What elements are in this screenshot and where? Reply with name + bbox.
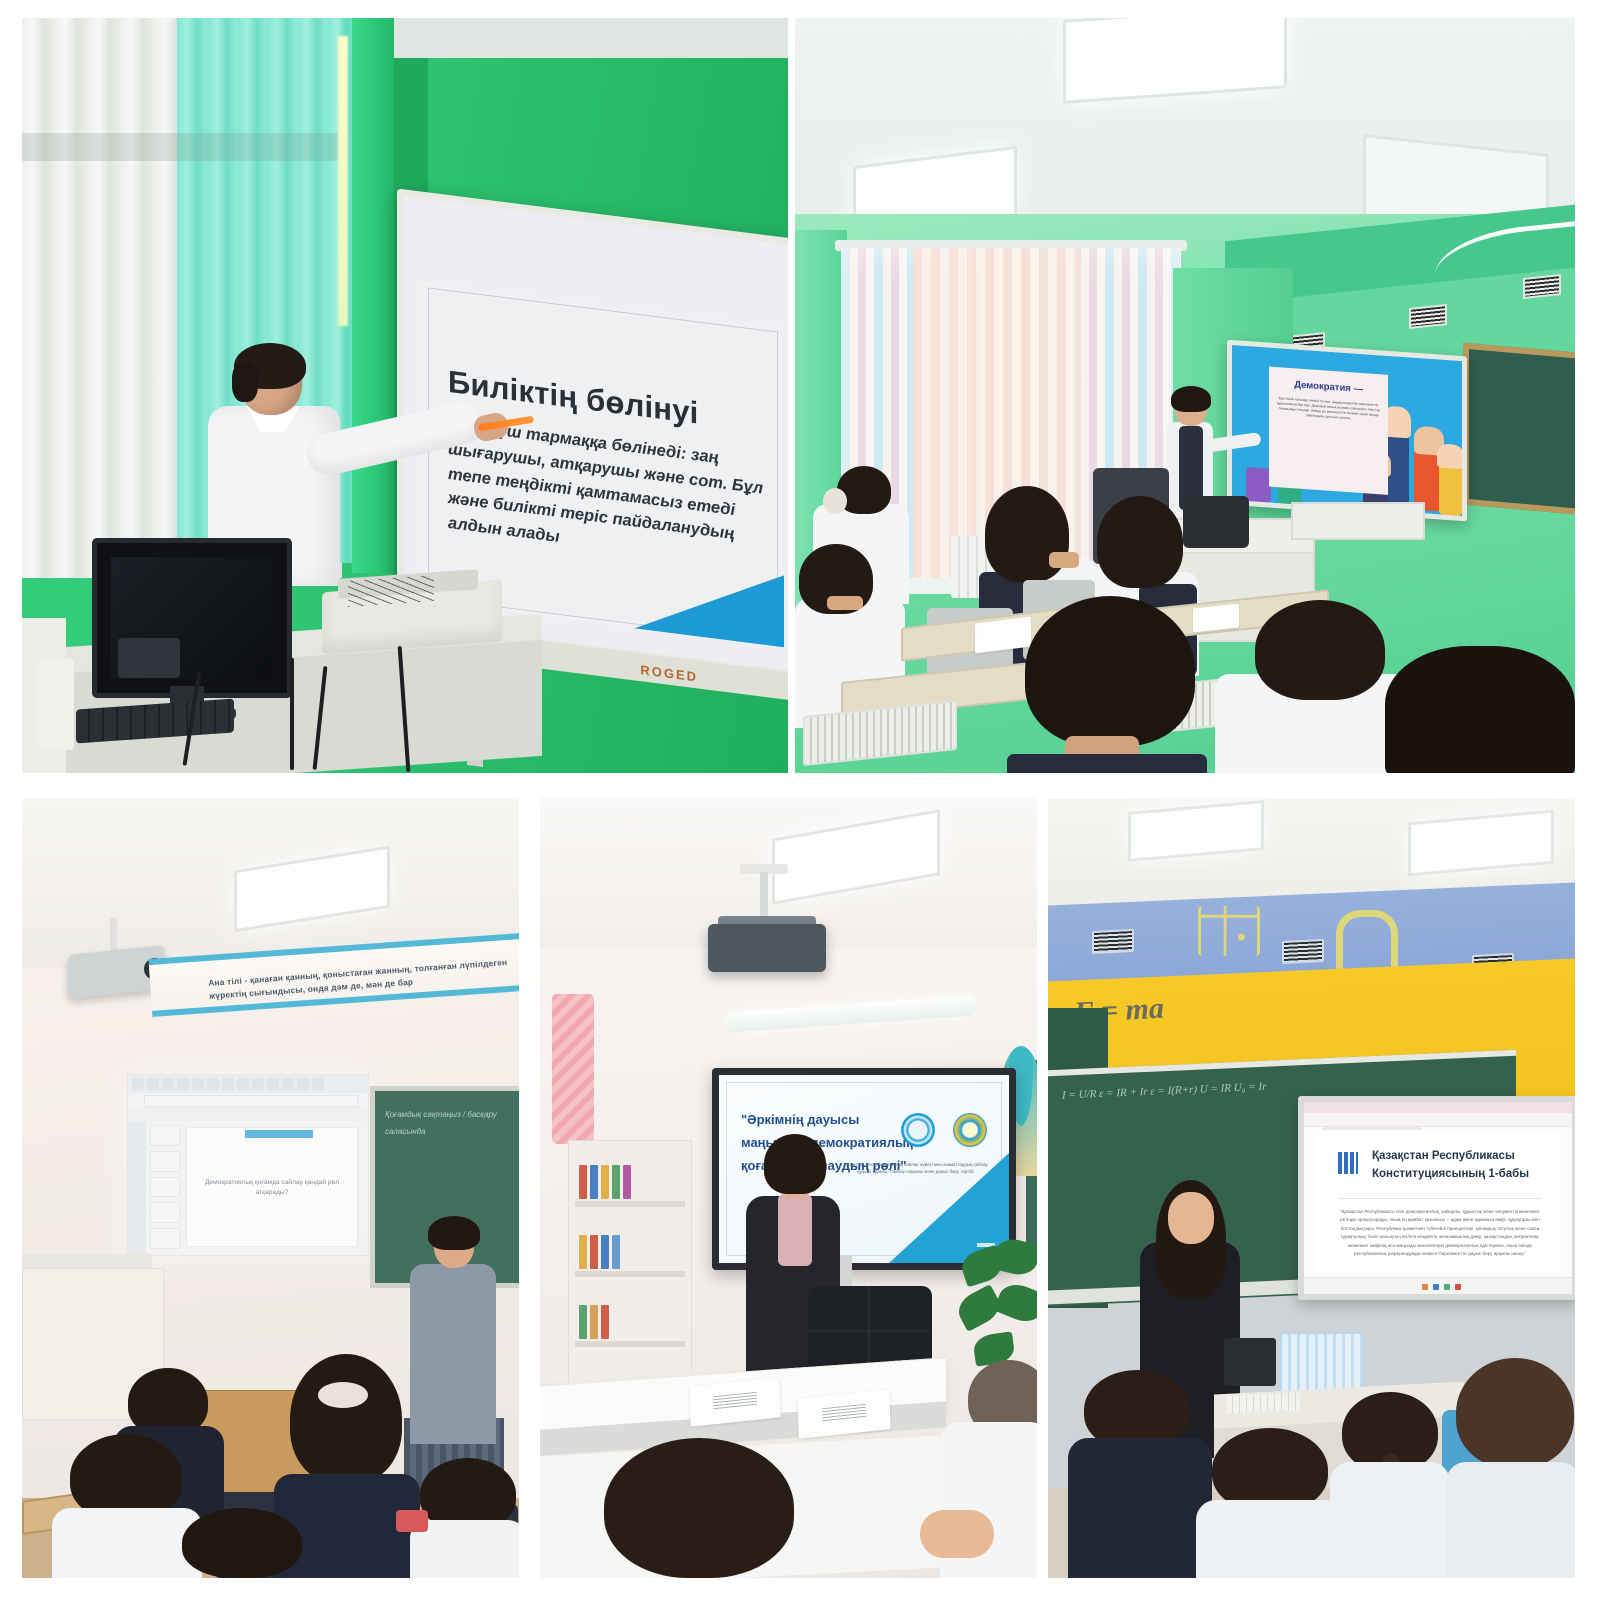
collage-panel-1: Биліктің бөлінуі Билік үш тармаққа бөлін… bbox=[22, 18, 788, 773]
magnet-icon bbox=[1336, 910, 1398, 969]
slide-thumbnail-list[interactable] bbox=[150, 1125, 180, 1249]
chalkboard bbox=[1463, 343, 1575, 516]
wall-decoration bbox=[552, 994, 594, 1144]
slide-body: Қазақстан Республикасының сайлау жүйесі … bbox=[841, 1161, 991, 1176]
collage-panel-3: Ана тілі - қанаған қанның, қоныстаған жа… bbox=[22, 798, 519, 1578]
student-shirt bbox=[1196, 1500, 1346, 1578]
shelf-row-3 bbox=[575, 1341, 685, 1347]
book-group-1 bbox=[579, 1165, 631, 1199]
bars-icon bbox=[1338, 1152, 1358, 1174]
side-table-top bbox=[1291, 502, 1425, 540]
air-vent-2 bbox=[1282, 939, 1324, 964]
kazakhstan-flag-emblem-icon bbox=[901, 1113, 935, 1147]
presentation-slide: Демократия — Бұл билік халыққа тиесілі б… bbox=[1232, 345, 1462, 516]
taskbar-icons[interactable] bbox=[1422, 1284, 1461, 1290]
smartboard[interactable]: Демократия — Бұл билік халыққа тиесілі б… bbox=[1227, 340, 1467, 522]
projection-screen: Демократиялық қоғамда сайлау қандай рөл … bbox=[127, 1074, 369, 1256]
desktop-monitor bbox=[1224, 1338, 1276, 1386]
student-neck bbox=[1049, 552, 1079, 568]
shelf-row-1 bbox=[575, 1201, 685, 1207]
student-hair bbox=[290, 1354, 402, 1484]
flask-icon bbox=[1198, 906, 1260, 956]
student-4 bbox=[1446, 1358, 1575, 1578]
app-ribbon[interactable] bbox=[128, 1107, 368, 1121]
title-divider bbox=[1338, 1198, 1542, 1199]
slide-body: "Қазақстан Республикасы өзін демократиял… bbox=[1338, 1208, 1542, 1259]
teacher-hair bbox=[764, 1134, 826, 1194]
air-vent-3 bbox=[1523, 274, 1561, 299]
cable-1 bbox=[290, 658, 294, 770]
hair-scrunchie bbox=[318, 1382, 368, 1408]
student-arm bbox=[920, 1510, 994, 1558]
hand-sleeve-3 bbox=[1439, 462, 1462, 516]
chalkboard-text: Қоғамдық сақтаңыз / басқару саласында bbox=[385, 1107, 517, 1141]
student-1 bbox=[1068, 1370, 1212, 1578]
hand-sleeve-5 bbox=[1246, 467, 1271, 503]
student-2 bbox=[52, 1434, 202, 1578]
wall-pillar bbox=[352, 18, 394, 573]
window-light-strip bbox=[338, 36, 348, 326]
student-hair bbox=[1097, 496, 1183, 588]
student-foreground-3 bbox=[1385, 646, 1575, 773]
student-3 bbox=[1330, 1392, 1450, 1578]
whiteboard-display[interactable]: Қазақстан Республикасы Конституциясының … bbox=[1298, 1096, 1575, 1300]
taskbar[interactable] bbox=[1304, 1277, 1572, 1294]
bookshelf bbox=[568, 1140, 692, 1412]
student-shirt bbox=[1330, 1462, 1450, 1578]
student-neck bbox=[827, 596, 863, 610]
power-strip bbox=[118, 638, 180, 678]
student-uniform bbox=[1068, 1438, 1212, 1578]
browser-toolbar[interactable] bbox=[1304, 1113, 1572, 1127]
app-search-bar[interactable] bbox=[144, 1095, 358, 1107]
air-vent-2 bbox=[1409, 304, 1447, 329]
hair-scrunchie bbox=[823, 488, 847, 514]
raised-hand-3 bbox=[1437, 443, 1465, 470]
slide-accent-bar bbox=[245, 1130, 313, 1138]
slide-text-card: Демократия — Бұл билік халыққа тиесілі б… bbox=[1269, 366, 1389, 495]
app-tabs[interactable] bbox=[132, 1078, 324, 1090]
book-group-2 bbox=[579, 1235, 620, 1269]
collage-panel-2: Демократия — Бұл билік халыққа тиесілі б… bbox=[795, 18, 1575, 773]
student-presenter-hair-side bbox=[232, 362, 258, 402]
browser-tabbar[interactable] bbox=[1304, 1102, 1572, 1113]
red-pencil-case bbox=[396, 1510, 428, 1532]
student-hair bbox=[1385, 646, 1575, 773]
collage-panel-4: "Әркімнің дауысы маңызды: демократиялық … bbox=[540, 798, 1037, 1578]
ceiling-projector bbox=[708, 924, 826, 972]
student-hair bbox=[1255, 600, 1385, 700]
air-vent-1 bbox=[1092, 929, 1134, 954]
slide-title: Қазақстан Республикасы Конституциясының … bbox=[1372, 1148, 1546, 1184]
slide-title: Демократия — bbox=[1269, 366, 1389, 396]
student-shirt bbox=[52, 1508, 202, 1578]
document-slide: Қазақстан Республикасы Конституциясының … bbox=[1316, 1130, 1560, 1274]
student-5 bbox=[182, 1508, 302, 1578]
slide-body: Бұл билік халыққа тиесілі болып, заңдаст… bbox=[1274, 395, 1384, 424]
teacher-head bbox=[1168, 1192, 1214, 1244]
shelf-row-2 bbox=[575, 1271, 685, 1277]
student-foreground-1 bbox=[1007, 596, 1207, 773]
student-hair bbox=[604, 1438, 794, 1578]
student-2 bbox=[1196, 1428, 1346, 1578]
student-hair bbox=[1456, 1358, 1574, 1468]
paper-roll bbox=[38, 658, 74, 750]
teacher-scarf bbox=[778, 1194, 812, 1266]
teacher-hair bbox=[428, 1216, 480, 1250]
student-vest bbox=[1007, 754, 1207, 773]
student-hair bbox=[182, 1508, 302, 1578]
student-foreground-1 bbox=[604, 1438, 794, 1578]
state-emblem-icon bbox=[953, 1113, 987, 1147]
app-sidebar-rail[interactable] bbox=[128, 1121, 146, 1255]
ceiling bbox=[394, 18, 788, 58]
student-foreground-2 bbox=[920, 1360, 1037, 1578]
slide-canvas: Демократиялық қоғамда сайлау қандай рөл … bbox=[186, 1127, 358, 1247]
blind-shadow bbox=[22, 133, 342, 161]
slide-body: Демократиялық қоғамда сайлау қандай рөл … bbox=[197, 1178, 347, 1199]
student-hair bbox=[1025, 596, 1195, 746]
student-shirt bbox=[1446, 1462, 1575, 1578]
presenter-hair bbox=[1171, 386, 1211, 412]
book-group-3 bbox=[579, 1305, 609, 1339]
collage-panel-5: F = ma I = U/R ε = IR + Ir ε = I(R+r) U … bbox=[1048, 798, 1575, 1578]
app-titlebar bbox=[128, 1075, 368, 1093]
photo-collage: Биліктің бөлінуі Билік үш тармаққа бөлін… bbox=[0, 0, 1599, 1599]
